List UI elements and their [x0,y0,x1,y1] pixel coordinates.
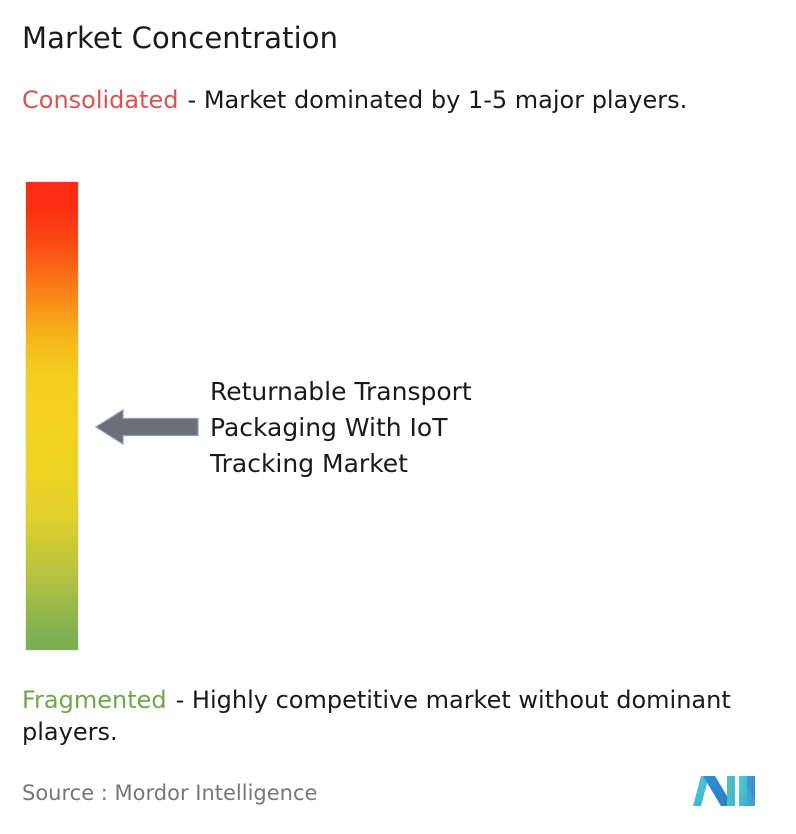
market-concentration-chart: Market Concentration Consolidated- Marke… [0,0,796,834]
marker-arrow-icon [93,407,201,447]
legend-key-fragmented: Fragmented [22,686,167,714]
legend-fragmented: Fragmented- Highly competitive market wi… [22,684,792,748]
concentration-gradient-bar [26,182,78,650]
marker-label-line-1: Returnable Transport [210,374,640,410]
mordor-intelligence-logo-icon [693,770,767,814]
marker-label-line-2: Packaging With IoT [210,410,640,446]
legend-consolidated: Consolidated- Market dominated by 1-5 ma… [22,84,778,116]
marker-label: Returnable Transport Packaging With IoT … [210,374,640,482]
legend-description-consolidated: - Market dominated by 1-5 major players. [188,86,688,114]
marker-label-line-3: Tracking Market [210,446,640,482]
page-title: Market Concentration [22,20,338,56]
legend-key-consolidated: Consolidated [22,86,179,114]
source-caption: Source : Mordor Intelligence [22,780,317,806]
